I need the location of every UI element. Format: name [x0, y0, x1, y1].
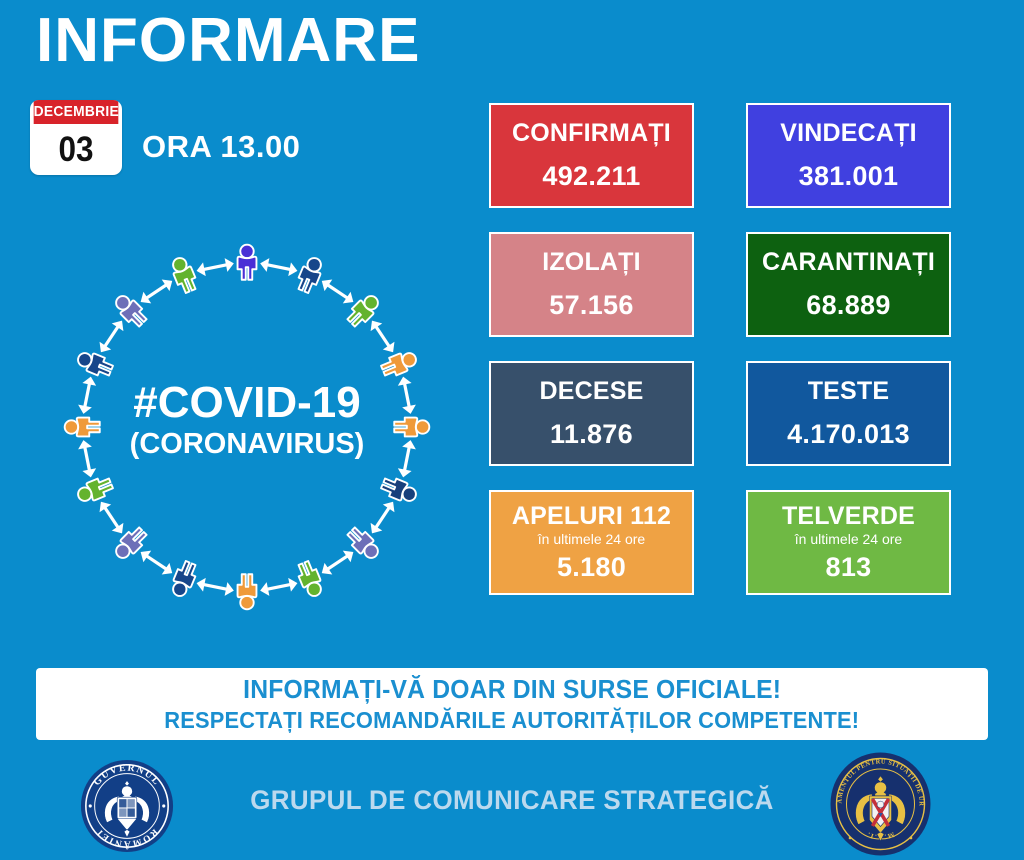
stat-label: VINDECAȚI: [780, 119, 917, 148]
stat-value: 57.156: [549, 290, 633, 321]
stat-value: 492.211: [542, 161, 640, 192]
distance-arrow-icon: [318, 546, 357, 579]
stats-row-2: IZOLAȚI 57.156 CARANTINAȚI 68.889: [489, 232, 951, 337]
stats-grid: CONFIRMAȚI 492.211 VINDECAȚI 381.001 IZO…: [489, 103, 951, 619]
stat-card-carantinati[interactable]: CARANTINAȚI 68.889: [746, 232, 951, 337]
person-icon: [379, 475, 419, 506]
stat-label: APELURI 112: [512, 502, 671, 531]
person-icon: [65, 418, 100, 437]
stat-card-telverde[interactable]: TELVERDE în ultimele 24 ore 813: [746, 490, 951, 595]
guvernul-romaniei-logo-icon: GUVERNUL ROMÂNIEI: [78, 757, 176, 855]
distance-arrow-icon: [259, 257, 299, 278]
stat-card-teste[interactable]: TESTE 4.170.013: [746, 361, 951, 466]
person-icon: [168, 255, 199, 295]
stat-card-decese[interactable]: DECESE 11.876: [489, 361, 694, 466]
official-sources-banner: INFORMAȚI-VĂ DOAR DIN SURSE OFICIALE! RE…: [36, 668, 988, 740]
distance-arrow-icon: [366, 317, 399, 356]
distance-arrow-icon: [318, 275, 357, 308]
distance-arrow-icon: [396, 375, 417, 415]
distance-arrow-icon: [195, 257, 235, 278]
page-title: INFORMARE: [36, 8, 420, 73]
stat-label: TELVERDE: [782, 502, 915, 531]
stat-card-vindecati[interactable]: VINDECAȚI 381.001: [746, 103, 951, 208]
distance-arrow-icon: [195, 576, 235, 597]
stats-row-1: CONFIRMAȚI 492.211 VINDECAȚI 381.001: [489, 103, 951, 208]
person-icon: [168, 559, 199, 599]
person-icon: [295, 559, 326, 599]
stats-row-3: DECESE 11.876 TESTE 4.170.013: [489, 361, 951, 466]
stat-label: IZOLAȚI: [542, 248, 641, 277]
calendar-month: DECEMBRIE: [34, 100, 119, 124]
person-icon: [238, 574, 257, 609]
person-icon: [238, 245, 257, 280]
calendar-day: 03: [35, 124, 118, 175]
distance-arrow-icon: [95, 317, 128, 356]
stat-value: 4.170.013: [787, 419, 910, 450]
stat-value: 5.180: [557, 552, 626, 583]
dsu-mai-logo-icon: DEPARTAMENTUL PENTRU SITUAȚII DE URGENȚĂ…: [828, 750, 933, 858]
stat-label: DECESE: [539, 377, 643, 406]
person-icon: [295, 255, 326, 295]
stat-label: CONFIRMAȚI: [512, 119, 671, 148]
stat-value: 813: [826, 552, 872, 583]
person-icon: [394, 418, 429, 437]
banner-line-2: RESPECTAȚI RECOMANDĂRILE AUTORITĂȚILOR C…: [165, 707, 860, 734]
distance-arrow-icon: [259, 576, 299, 597]
report-hour: ORA 13.00: [142, 129, 300, 165]
stat-card-apeluri-112[interactable]: APELURI 112 în ultimele 24 ore 5.180: [489, 490, 694, 595]
distance-arrow-icon: [366, 498, 399, 537]
stat-note: în ultimele 24 ore: [795, 531, 902, 548]
infographic-page: INFORMARE DECEMBRIE 03 ORA 13.00 #COVID-…: [0, 0, 1024, 860]
person-icon: [75, 475, 115, 506]
stat-card-izolati[interactable]: IZOLAȚI 57.156: [489, 232, 694, 337]
distance-arrow-icon: [396, 439, 417, 479]
distance-arrow-icon: [137, 275, 176, 308]
stats-row-4: APELURI 112 în ultimele 24 ore 5.180 TEL…: [489, 490, 951, 595]
distance-arrow-icon: [95, 498, 128, 537]
stat-value: 11.876: [550, 419, 633, 450]
person-icon: [379, 348, 419, 379]
banner-line-1: INFORMAȚI-VĂ DOAR DIN SURSE OFICIALE!: [243, 674, 781, 705]
stat-note: în ultimele 24 ore: [538, 531, 645, 548]
stat-card-confirmati[interactable]: CONFIRMAȚI 492.211: [489, 103, 694, 208]
distance-arrow-icon: [137, 546, 176, 579]
stat-value: 68.889: [806, 290, 890, 321]
stat-label: TESTE: [808, 377, 890, 406]
distance-arrow-icon: [77, 439, 98, 479]
person-icon: [75, 348, 115, 379]
people-circle-icon: [32, 212, 462, 642]
stat-label: CARANTINAȚI: [762, 248, 935, 277]
distance-arrow-icon: [77, 375, 98, 415]
social-distancing-graphic: #COVID-19 (CORONAVIRUS): [32, 212, 462, 642]
stat-value: 381.001: [799, 161, 899, 192]
calendar-badge: DECEMBRIE 03: [30, 100, 122, 175]
